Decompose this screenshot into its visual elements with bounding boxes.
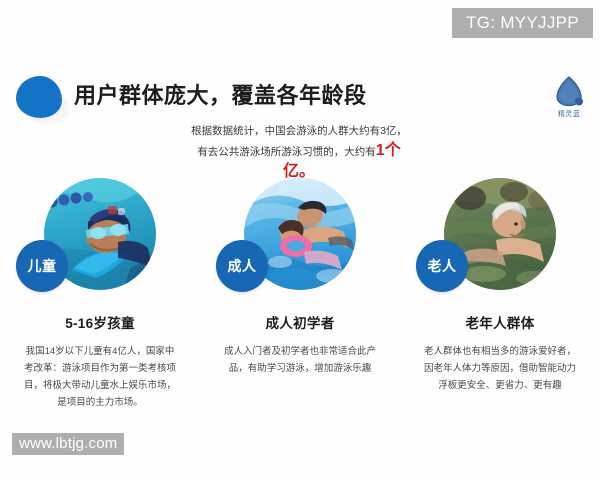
column-title-children: 5-16岁孩童 [65, 312, 135, 332]
audience-columns: 儿童 5-16岁孩童 我国14岁以下儿童有4亿人，国家中考改革：游泳项目作为第一… [0, 178, 600, 411]
badge-children: 儿童 [16, 240, 68, 292]
column-body-elderly: 老人群体也有相当多的游泳爱好者，因老年人体力等原因，借助智能动力浮板更安全、更省… [424, 343, 576, 394]
slide-canvas: TG: MYYJJPP 用户群体庞大，覆盖各年龄段 根据数据统计，中国会游泳的人… [0, 0, 600, 480]
audience-column-elderly: 老人 老年人群体 老人群体也有相当多的游泳爱好者，因老年人体力等原因，借助智能动… [400, 178, 600, 411]
brand-shield-icon [554, 76, 584, 107]
photo-wrapper: 成人 [244, 178, 356, 290]
column-body-children: 我国14岁以下儿童有4亿人，国家中考改革：游泳项目作为第一类考核项目，将极大带动… [24, 343, 176, 411]
badge-adults: 成人 [216, 240, 268, 292]
brand-logo: 精灵蓝 [545, 76, 593, 119]
brand-name: 精灵蓝 [545, 109, 593, 119]
column-title-elderly: 老年人群体 [466, 312, 535, 332]
leaf-accent-icon [16, 76, 68, 122]
leaf-body [16, 76, 62, 118]
subtitle-paragraph: 根据数据统计，中国会游泳的人群大约有3亿，有去公共游泳场所游泳习惯的，大约有1个… [186, 122, 412, 183]
page-title: 用户群体庞大，覆盖各年龄段 [74, 78, 367, 110]
audience-column-children: 儿童 5-16岁孩童 我国14岁以下儿童有4亿人，国家中考改革：游泳项目作为第一… [0, 178, 200, 411]
photo-wrapper: 儿童 [44, 178, 156, 290]
column-title-adults: 成人初学者 [266, 312, 335, 332]
photo-wrapper: 老人 [444, 178, 556, 290]
audience-column-adults: 成人 成人初学者 成人入门者及初学者也非常适合此产品，有助学习游泳，增加游泳乐趣 [200, 178, 400, 411]
badge-elderly: 老人 [416, 240, 468, 292]
subtitle-text: 根据数据统计，中国会游泳的人群大约有3亿，有去公共游泳场所游泳习惯的，大约有 [191, 125, 407, 158]
column-body-adults: 成人入门者及初学者也非常适合此产品，有助学习游泳，增加游泳乐趣 [224, 343, 376, 377]
site-watermark: www.lbtjg.com [12, 433, 124, 455]
telegram-watermark: TG: MYYJJPP [452, 8, 593, 38]
